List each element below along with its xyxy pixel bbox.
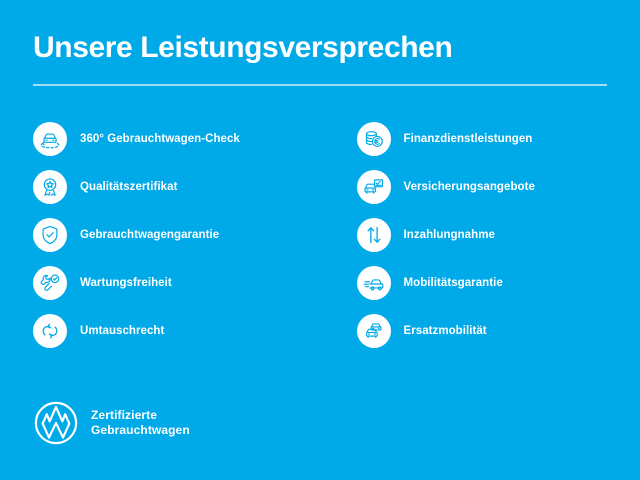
award-rosette-icon <box>33 170 67 204</box>
benefit-item[interactable]: Umtauschrecht <box>33 314 327 348</box>
benefit-label: Gebrauchtwagengarantie <box>80 228 219 242</box>
brand-lockup: Zertifizierte Gebrauchtwagen <box>33 400 190 446</box>
benefits-grid: 360° Gebrauchtwagen-Check Qualitätszerti… <box>33 122 620 348</box>
benefits-column-right: Finanzdienstleistungen Versicherungsange… <box>327 122 621 348</box>
benefit-item[interactable]: 360° Gebrauchtwagen-Check <box>33 122 327 156</box>
two-cars-icon <box>357 314 391 348</box>
benefit-item[interactable]: Ersatzmobilität <box>357 314 621 348</box>
benefits-column-left: 360° Gebrauchtwagen-Check Qualitätszerti… <box>33 122 327 348</box>
benefit-label: Versicherungsangebote <box>404 180 535 194</box>
car-document-icon <box>357 170 391 204</box>
benefit-label: Ersatzmobilität <box>404 324 487 338</box>
benefit-label: Finanzdienstleistungen <box>404 132 533 146</box>
volkswagen-logo <box>33 400 79 446</box>
benefit-label: Qualitätszertifikat <box>80 180 177 194</box>
exchange-arrows-icon <box>33 314 67 348</box>
benefit-item[interactable]: Qualitätszertifikat <box>33 170 327 204</box>
benefit-label: 360° Gebrauchtwagen-Check <box>80 132 240 146</box>
benefit-label: Umtauschrecht <box>80 324 164 338</box>
title-divider <box>33 84 607 86</box>
benefit-item[interactable]: Finanzdienstleistungen <box>357 122 621 156</box>
wrench-check-icon <box>33 266 67 300</box>
car-motion-icon <box>357 266 391 300</box>
brand-line-1: Zertifizierte <box>91 408 190 423</box>
arrows-up-down-icon <box>357 218 391 252</box>
shield-check-icon <box>33 218 67 252</box>
page-title: Unsere Leistungsversprechen <box>33 30 607 66</box>
header: Unsere Leistungsversprechen <box>33 30 607 86</box>
benefit-item[interactable]: Inzahlungnahme <box>357 218 621 252</box>
benefit-label: Mobilitätsgarantie <box>404 276 503 290</box>
benefit-item[interactable]: Versicherungsangebote <box>357 170 621 204</box>
brand-line-2: Gebrauchtwagen <box>91 423 190 438</box>
car-360-check-icon <box>33 122 67 156</box>
benefit-item[interactable]: Wartungsfreiheit <box>33 266 327 300</box>
benefit-item[interactable]: Mobilitätsgarantie <box>357 266 621 300</box>
brand-text: Zertifizierte Gebrauchtwagen <box>91 408 190 438</box>
benefit-label: Wartungsfreiheit <box>80 276 172 290</box>
benefit-item[interactable]: Gebrauchtwagengarantie <box>33 218 327 252</box>
coins-euro-icon <box>357 122 391 156</box>
benefit-label: Inzahlungnahme <box>404 228 495 242</box>
promise-card: Unsere Leistungsversprechen 360° Gebrauc… <box>0 0 640 480</box>
